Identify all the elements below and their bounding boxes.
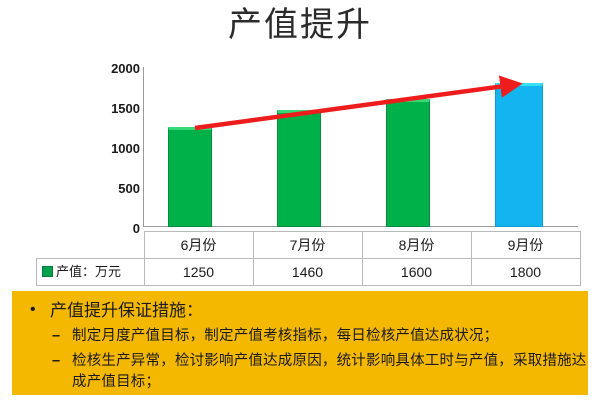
table-value-september: 1800 (471, 259, 580, 286)
legend-swatch-icon (42, 266, 53, 277)
y-tick-500: 500 (82, 182, 140, 195)
table-header-july: 7月份 (253, 232, 362, 259)
callout-item-1: 制定月度产值目标，制定产值考核指标，每日检核产值达成状况； (52, 326, 588, 347)
table-header-september: 9月份 (471, 232, 580, 259)
bar-july (277, 110, 321, 227)
y-tick-1500: 1500 (82, 102, 140, 115)
table-corner-cell (37, 232, 145, 259)
page-title: 产值提升 (0, 4, 600, 48)
bar-august (386, 99, 430, 227)
callout-heading: 产值提升保证措施： (28, 300, 588, 322)
y-tick-2000: 2000 (82, 62, 140, 75)
table-row-header: 6月份 7月份 8月份 9月份 (37, 232, 581, 259)
bar-chart: 2000 1500 1000 500 0 (0, 60, 600, 240)
callout-box: 产值提升保证措施： 制定月度产值目标，制定产值考核指标，每日检核产值达成状况； … (12, 291, 588, 395)
y-tick-1000: 1000 (82, 142, 140, 155)
table-row-values: 产值：万元 1250 1460 1600 1800 (37, 259, 581, 286)
callout-item-2: 检核生产异常，检讨影响产值达成原因，统计影响具体工时与产值，采取措施达成产值目标… (52, 351, 588, 393)
y-axis-tick-labels: 2000 1500 1000 500 0 (80, 60, 140, 230)
series-legend-cell: 产值：万元 (37, 259, 145, 286)
table-value-july: 1460 (253, 259, 362, 286)
table-value-august: 1600 (362, 259, 471, 286)
table-value-june: 1250 (144, 259, 253, 286)
bar-september (495, 83, 543, 227)
table-header-august: 8月份 (362, 232, 471, 259)
series-legend-label: 产值：万元 (56, 264, 121, 279)
table-header-june: 6月份 (144, 232, 253, 259)
plot-area (143, 67, 578, 227)
bar-june (168, 127, 212, 227)
data-table: 6月份 7月份 8月份 9月份 产值：万元 1250 1460 1600 180… (36, 231, 581, 286)
